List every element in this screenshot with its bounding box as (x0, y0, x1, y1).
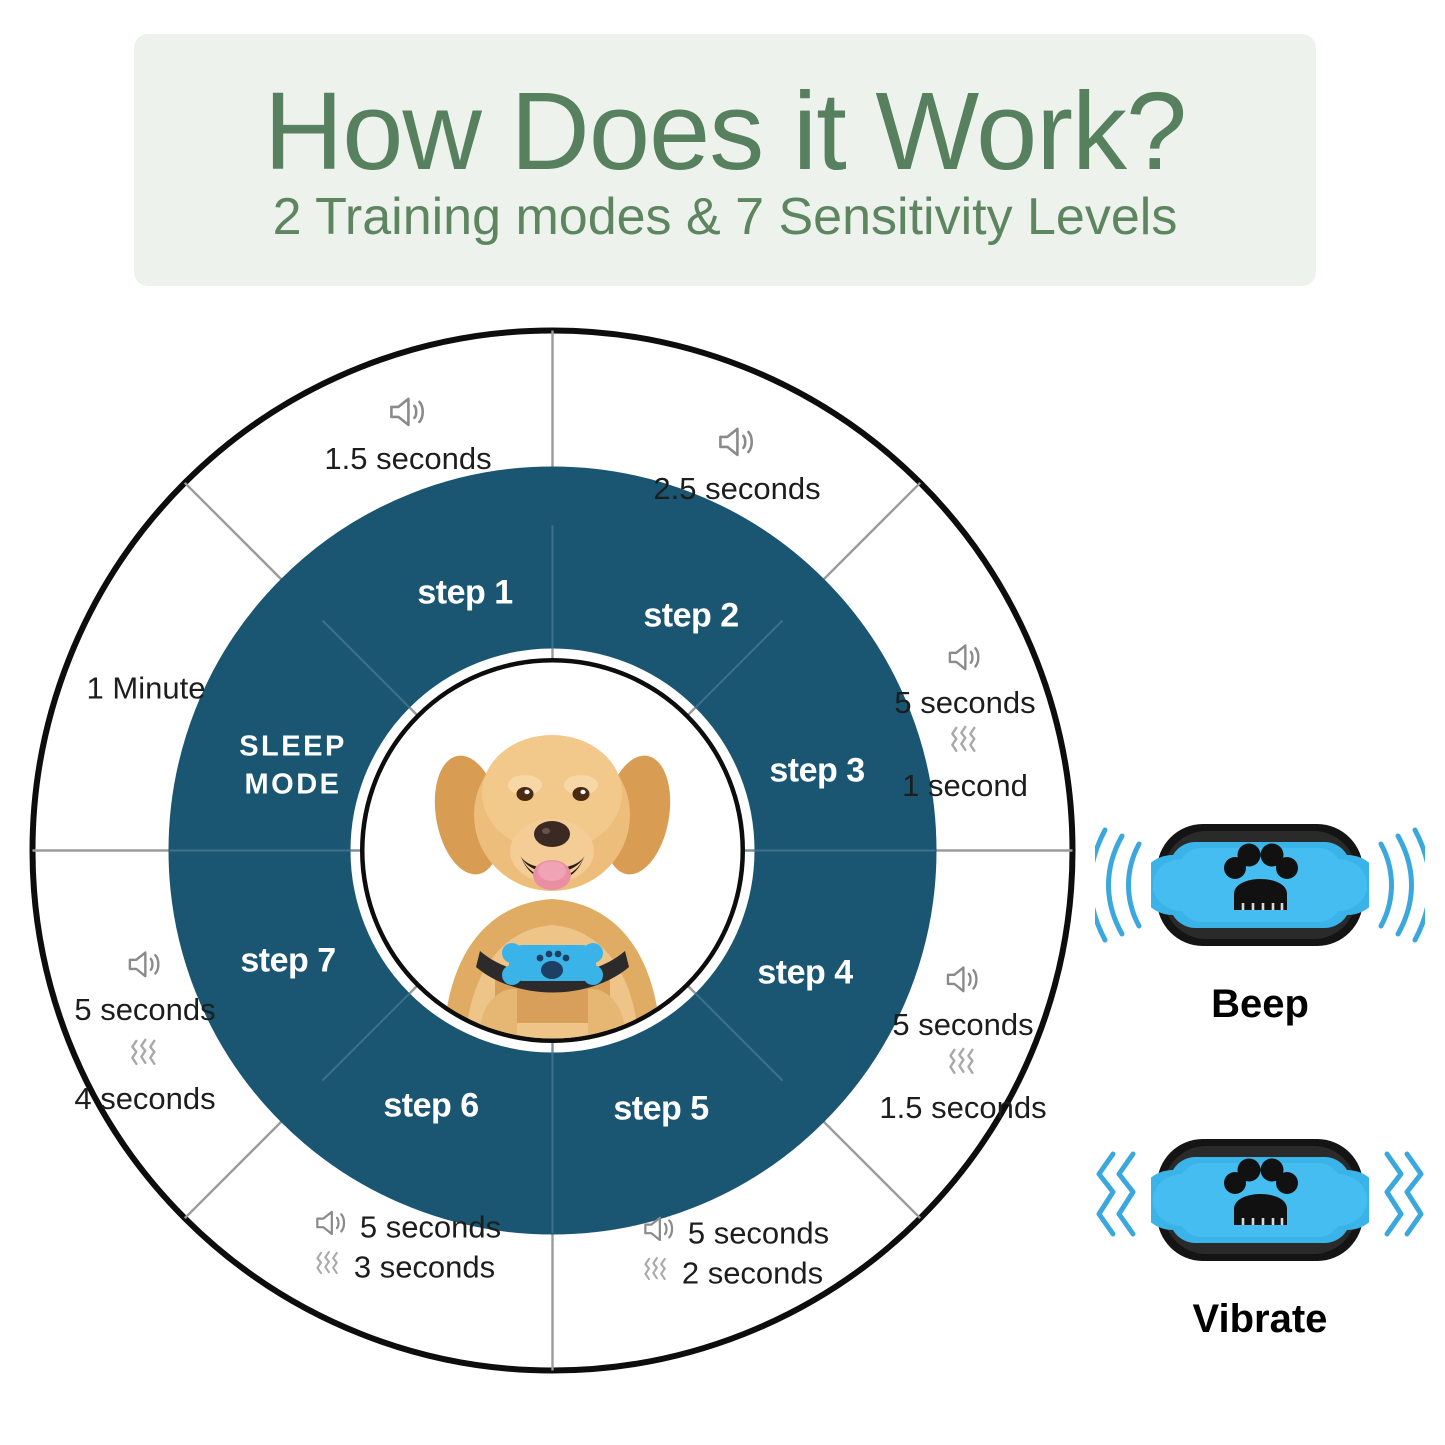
training-wheel-diagram: SLEEP MODE step 1 step 2 step 3 step 4 s… (25, 323, 1080, 1378)
page-subtitle: 2 Training modes & 7 Sensitivity Levels (273, 191, 1178, 243)
speaker-wave-icon (1373, 820, 1425, 955)
device-beep-block: Beep (1085, 795, 1435, 1027)
wheel-svg (25, 323, 1080, 1378)
device-beep-caption: Beep (1085, 982, 1435, 1027)
blue-paw-collar-device (1151, 1125, 1369, 1280)
vibration-wave-icon (1373, 1140, 1425, 1265)
collar-device-icon (502, 943, 603, 985)
device-vibrate-block: Vibrate (1085, 1110, 1435, 1342)
header-banner: How Does it Work? 2 Training modes & 7 S… (134, 34, 1316, 286)
device-beep-illustration (1085, 795, 1435, 980)
blue-paw-collar-device (1151, 810, 1369, 965)
speaker-wave-icon (1095, 820, 1147, 955)
page-title: How Does it Work? (264, 77, 1186, 187)
device-vibrate-caption: Vibrate (1085, 1297, 1435, 1342)
vibration-wave-icon (1095, 1140, 1147, 1265)
device-vibrate-illustration (1085, 1110, 1435, 1295)
